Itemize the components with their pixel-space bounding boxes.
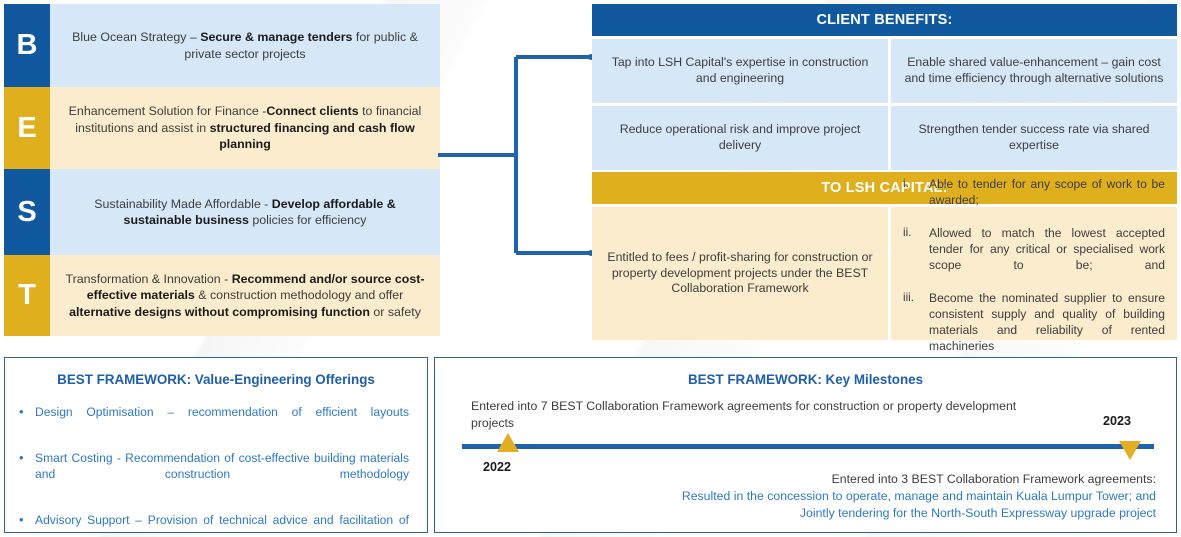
value-engineering-title: BEST FRAMEWORK: Value-Engineering Offeri… <box>5 372 427 387</box>
best-text-t-seg2: & construction methodology and offer <box>195 288 403 302</box>
best-text-e-seg1: Connect clients <box>266 104 358 118</box>
timeline-marker-down-icon <box>1119 441 1141 460</box>
list-text: Smart Costing - Recommendation of cost-e… <box>35 450 409 499</box>
list-item: • Design Optimisation – recommendation o… <box>19 404 409 437</box>
to-lsh-capital-right-cell: i. Able to tender for any scope of work … <box>891 207 1177 340</box>
to-lsh-capital-body: Entitled to fees / profit-sharing for co… <box>592 207 1177 340</box>
bracket-connector <box>438 40 598 330</box>
best-text-b: Blue Ocean Strategy – Secure & manage te… <box>50 4 440 87</box>
best-text-e-seg0: Enhancement Solution for Finance - <box>69 104 267 118</box>
best-letter-b: B <box>4 4 50 87</box>
client-benefits-row-1: Tap into LSH Capital's expertise in cons… <box>592 39 1177 103</box>
client-benefit-cell: Tap into LSH Capital's expertise in cons… <box>592 39 888 103</box>
value-engineering-list: • Design Optimisation – recommendation o… <box>5 404 427 533</box>
bullet-icon: • <box>19 512 35 533</box>
list-marker: ii. <box>903 225 929 289</box>
client-benefit-cell: Enable shared value-enhancement – gain c… <box>891 39 1177 103</box>
best-text-t-seg4: or safety <box>370 305 421 319</box>
timeline-axis <box>462 444 1154 449</box>
milestone-2023-line-1: Resulted in the concession to operate, m… <box>546 488 1156 505</box>
bullet-icon: • <box>19 404 35 437</box>
best-text-t-seg3: alternative designs without compromising… <box>69 305 370 319</box>
key-milestones-panel: BEST FRAMEWORK: Key Milestones Entered i… <box>434 357 1177 533</box>
best-acronym-block: B Blue Ocean Strategy – Secure & manage … <box>4 4 440 336</box>
slide-stage: B Blue Ocean Strategy – Secure & manage … <box>0 0 1181 537</box>
client-benefit-cell: Reduce operational risk and improve proj… <box>592 106 888 170</box>
list-text: Design Optimisation – recommendation of … <box>35 404 409 437</box>
best-text-s-seg0: Sustainability Made Affordable - <box>94 197 271 211</box>
best-text-b-seg1: Secure & manage tenders <box>200 30 352 44</box>
client-benefits-panel: CLIENT BENEFITS: Tap into LSH Capital's … <box>592 4 1177 170</box>
milestone-2023-line-2: Jointly tendering for the North-South Ex… <box>546 505 1156 522</box>
timeline-label-2022: 2022 <box>483 460 511 474</box>
best-row-e: E Enhancement Solution for Finance -Conn… <box>4 87 440 169</box>
list-item: ii. Allowed to match the lowest accepted… <box>903 225 1165 289</box>
best-text-s-seg2: policies for efficiency <box>249 213 367 227</box>
list-text: Able to tender for any scope of work to … <box>929 176 1165 224</box>
to-lsh-capital-left-cell: Entitled to fees / profit-sharing for co… <box>592 207 888 340</box>
roman-numeral-list: i. Able to tender for any scope of work … <box>903 176 1165 372</box>
best-text-s: Sustainability Made Affordable - Develop… <box>50 169 440 255</box>
best-text-t-seg0: Transformation & Innovation - <box>66 272 232 286</box>
list-text: Allowed to match the lowest accepted ten… <box>929 225 1165 289</box>
best-row-s: S Sustainability Made Affordable - Devel… <box>4 169 440 255</box>
best-row-t: T Transformation & Innovation - Recommen… <box>4 255 440 336</box>
best-text-e: Enhancement Solution for Finance -Connec… <box>50 87 440 169</box>
best-text-t: Transformation & Innovation - Recommend … <box>50 255 440 336</box>
best-row-b: B Blue Ocean Strategy – Secure & manage … <box>4 4 440 87</box>
milestone-2023-description: Entered into 3 BEST Collaboration Framew… <box>546 471 1156 522</box>
milestone-2023-lead: Entered into 3 BEST Collaboration Framew… <box>546 471 1156 488</box>
best-text-b-seg0: Blue Ocean Strategy – <box>72 30 200 44</box>
list-text: Advisory Support – Provision of technica… <box>35 512 409 533</box>
best-letter-t: T <box>4 255 50 336</box>
client-benefit-cell: Strengthen tender success rate via share… <box>891 106 1177 170</box>
timeline-marker-up-icon <box>497 433 519 452</box>
client-benefits-row-2: Reduce operational risk and improve proj… <box>592 106 1177 170</box>
list-item: • Advisory Support – Provision of techni… <box>19 512 409 533</box>
to-lsh-capital-panel: TO LSH CAPITAL: Entitled to fees / profi… <box>592 172 1177 340</box>
list-marker: i. <box>903 176 929 224</box>
best-text-e-seg3: structured financing and cash flow plann… <box>210 121 415 152</box>
best-letter-s: S <box>4 169 50 255</box>
bullet-icon: • <box>19 450 35 499</box>
best-letter-e: E <box>4 87 50 169</box>
value-engineering-panel: BEST FRAMEWORK: Value-Engineering Offeri… <box>4 357 428 533</box>
list-item: • Smart Costing - Recommendation of cost… <box>19 450 409 499</box>
timeline-label-2023: 2023 <box>1103 414 1131 428</box>
key-milestones-title: BEST FRAMEWORK: Key Milestones <box>435 372 1176 387</box>
client-benefits-header: CLIENT BENEFITS: <box>592 4 1177 36</box>
list-item: i. Able to tender for any scope of work … <box>903 176 1165 224</box>
milestone-2022-description: Entered into 7 BEST Collaboration Framew… <box>471 398 1031 431</box>
